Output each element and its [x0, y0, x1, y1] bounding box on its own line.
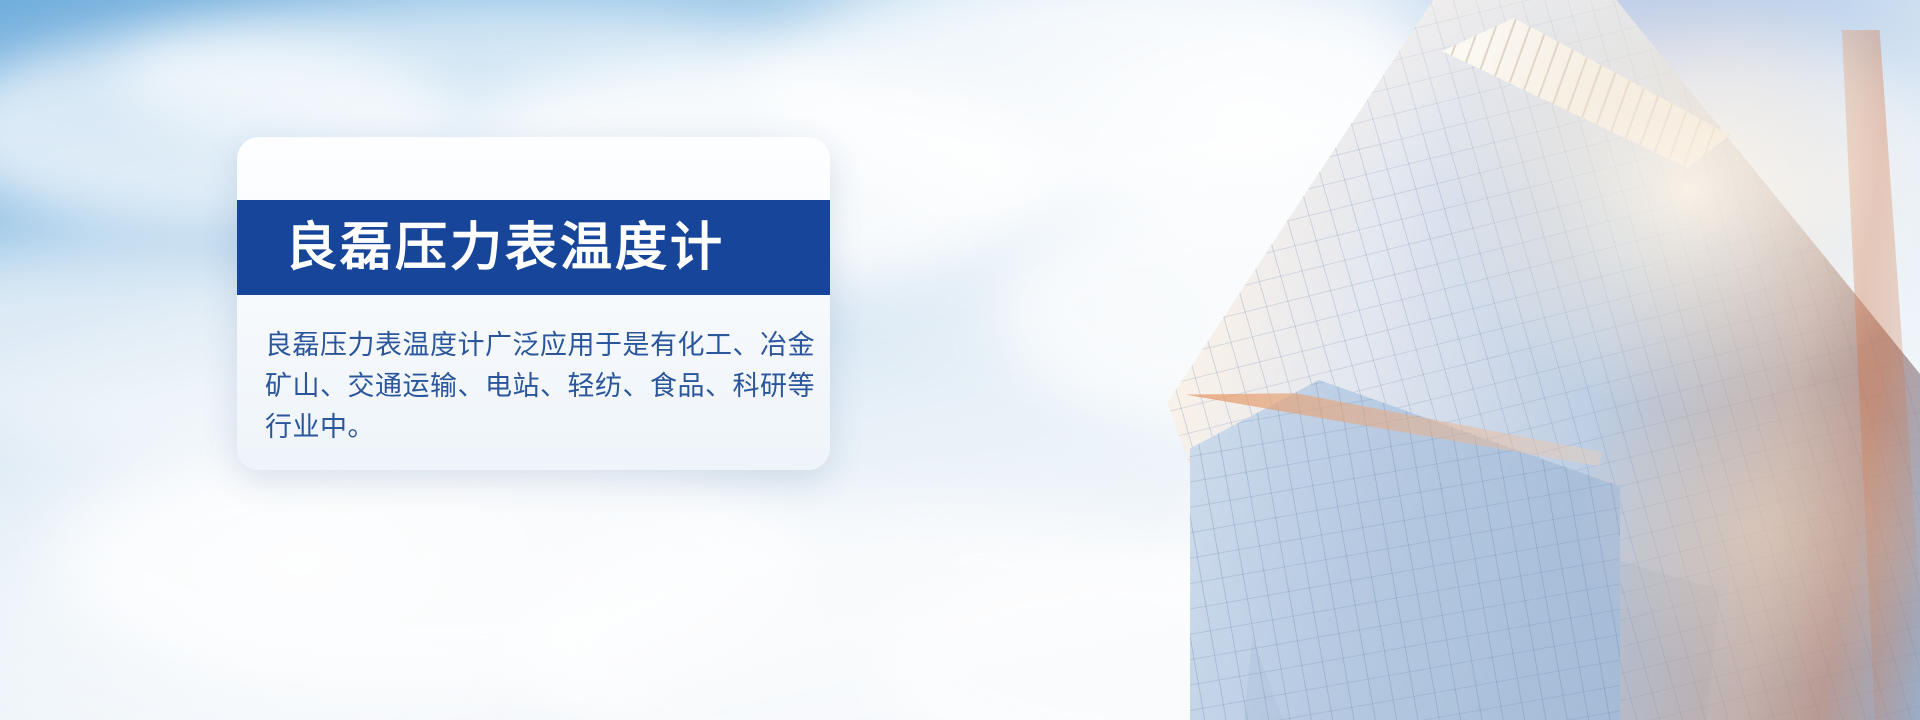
page-title: 良磊压力表温度计 [285, 222, 725, 274]
description-line: 行业中。 [265, 407, 813, 448]
title-bar: 良磊压力表温度计 [237, 200, 830, 295]
scene-blend [900, 0, 1160, 720]
description-line: 良磊压力表温度计广泛应用于是有化工、冶金 [265, 325, 813, 366]
hero-banner: 良磊压力表温度计 良磊压力表温度计广泛应用于是有化工、冶金 矿山、交通运输、电站… [0, 0, 1920, 720]
description-line: 矿山、交通运输、电站、轻纺、食品、科研等 [265, 366, 813, 407]
description-paragraph: 良磊压力表温度计广泛应用于是有化工、冶金 矿山、交通运输、电站、轻纺、食品、科研… [265, 325, 813, 448]
hero-text-card: 良磊压力表温度计 良磊压力表温度计广泛应用于是有化工、冶金 矿山、交通运输、电站… [237, 137, 830, 470]
